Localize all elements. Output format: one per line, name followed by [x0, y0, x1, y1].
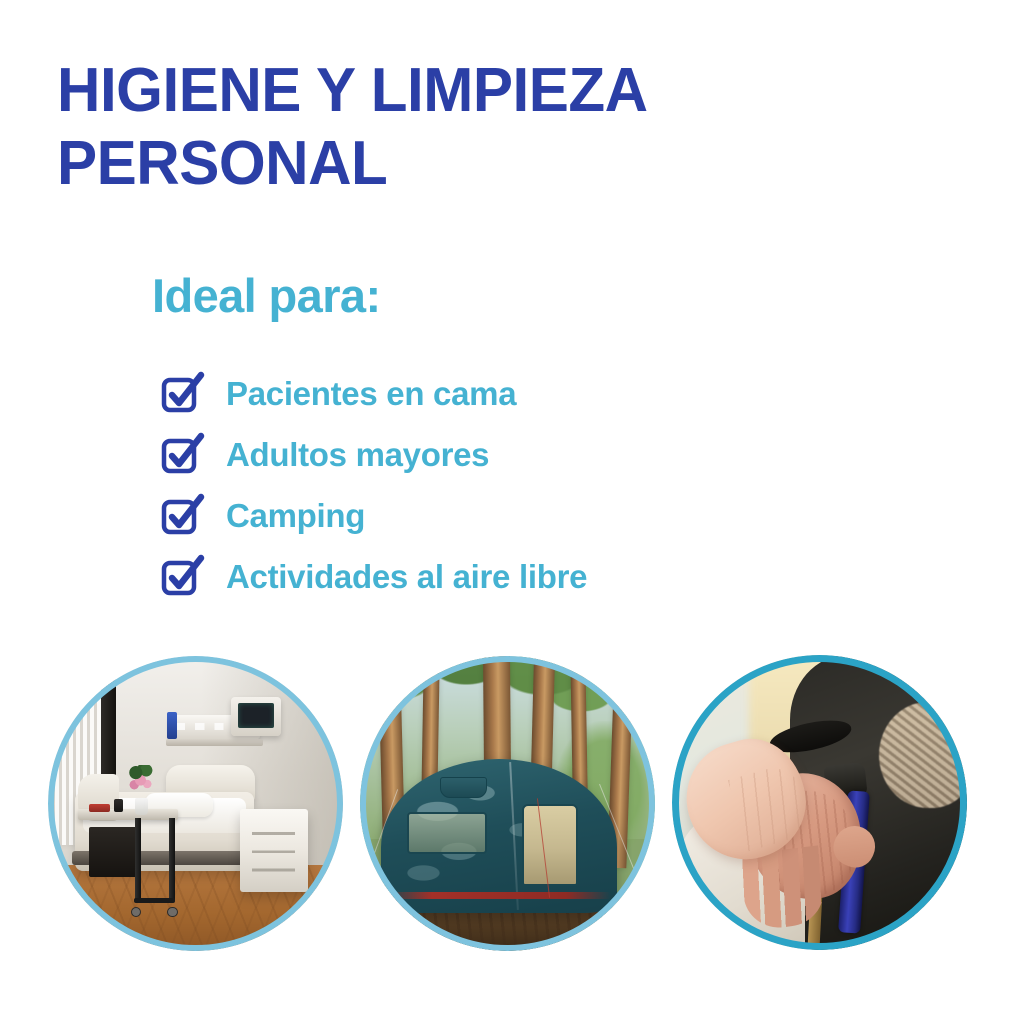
forest-scene	[360, 656, 655, 951]
list-item: Actividades al aire libre	[160, 546, 587, 607]
red-tray	[89, 804, 110, 812]
tent-vent	[440, 777, 487, 798]
elderly-care-image	[672, 655, 967, 950]
page-title: HIGIENE Y LIMPIEZA PERSONAL	[57, 62, 917, 194]
checkbox-checked-icon	[160, 433, 204, 477]
tent-window	[407, 812, 487, 853]
checkbox-checked-icon	[160, 372, 204, 416]
camping-image	[360, 656, 655, 951]
ideal-for-checklist: Pacientes en cama Adultos mayores Campin…	[160, 363, 587, 607]
checkbox-checked-icon	[160, 494, 204, 538]
hospital-room-scene	[48, 656, 343, 951]
page-title-line-1: HIGIENE Y LIMPIEZA	[57, 62, 891, 121]
photo-circle-elderly-care	[672, 655, 967, 950]
cup	[114, 799, 123, 812]
checkbox-checked-icon	[160, 555, 204, 599]
nightstand-cabinet	[240, 809, 308, 892]
page-title-line-2: PERSONAL	[57, 135, 891, 194]
list-item-label: Adultos mayores	[226, 438, 489, 471]
list-item-label: Camping	[226, 499, 365, 532]
overbed-table-leg	[135, 818, 141, 901]
list-item-label: Actividades al aire libre	[226, 560, 587, 593]
tent-door	[522, 804, 578, 887]
overbed-table-leg	[169, 818, 175, 901]
overbed-table-crossbar	[134, 898, 175, 903]
wall-monitor	[231, 697, 281, 735]
list-item: Pacientes en cama	[160, 363, 587, 424]
photo-circle-camping	[360, 656, 655, 951]
hospital-room-image	[48, 656, 343, 951]
caregiving-hands-scene	[672, 655, 967, 950]
list-item-label: Pacientes en cama	[226, 377, 516, 410]
flower-vase	[135, 798, 148, 816]
headwall-shelf	[166, 739, 263, 746]
photo-circle-hospital-room	[48, 656, 343, 951]
tent-base-trim	[387, 892, 611, 899]
gas-outlet	[167, 712, 176, 739]
list-item: Adultos mayores	[160, 424, 587, 485]
dark-drape	[89, 827, 139, 877]
list-item: Camping	[160, 485, 587, 546]
section-subtitle: Ideal para:	[152, 272, 381, 319]
